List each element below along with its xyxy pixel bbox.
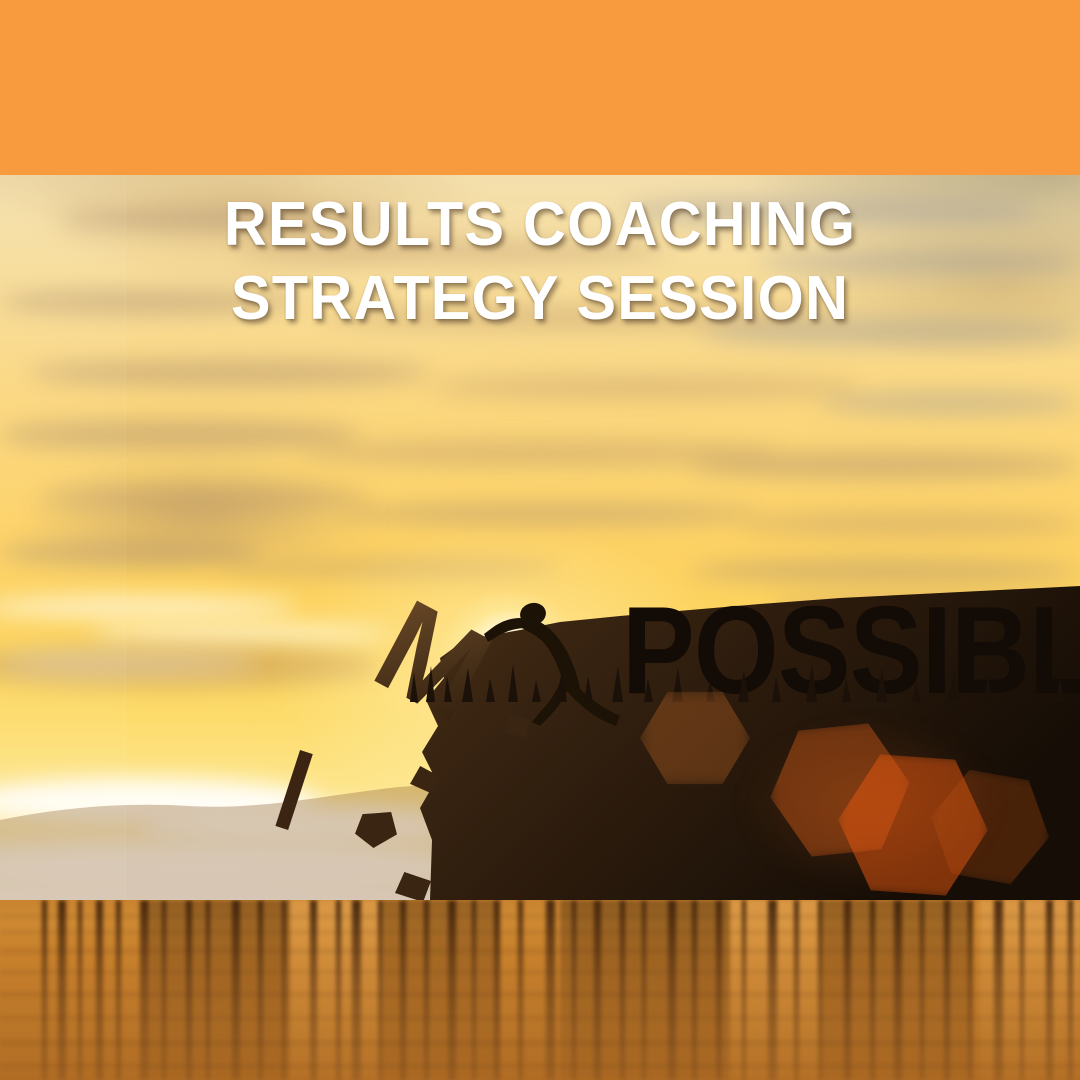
reflection-streaks <box>0 900 1080 1080</box>
grass-tufts <box>400 662 1080 702</box>
cloud-streak <box>740 512 1080 536</box>
cloud-streak <box>820 392 1080 414</box>
reflection-blur-layer <box>0 900 1080 1080</box>
page-title: RESULTS COACHING STRATEGY SESSION <box>0 188 1080 336</box>
water-reflection-band <box>0 900 1080 1080</box>
top-orange-bar <box>0 0 1080 175</box>
title-line-1: RESULTS COACHING <box>22 188 1059 262</box>
cloud-streak <box>690 452 1080 478</box>
cloud-streak <box>30 360 430 386</box>
poster-canvas: POSSIBLE M I <box>0 0 1080 1080</box>
cloud-streak <box>430 376 860 398</box>
title-line-2: STRATEGY SESSION <box>22 262 1059 336</box>
